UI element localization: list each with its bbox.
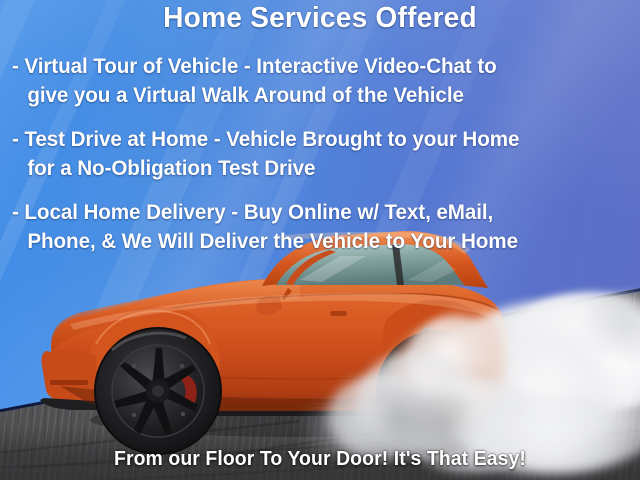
list-item: - Local Home Delivery - Buy Online w/ Te… [12,198,603,256]
list-item-line-1: - Virtual Tour of Vehicle - Interactive … [12,52,603,81]
tagline: From our Floor To Your Door! It's That E… [10,448,631,471]
services-list: - Virtual Tour of Vehicle - Interactive … [12,52,603,271]
list-item-line-2: for a No-Obligation Test Drive [12,154,603,183]
list-item-line-1: - Local Home Delivery - Buy Online w/ Te… [12,198,603,227]
list-item-line-2: Phone, & We Will Deliver the Vehicle to … [12,227,603,256]
list-item: - Virtual Tour of Vehicle - Interactive … [12,52,603,110]
page-title: Home Services Offered [10,1,631,35]
list-item-line-1: - Test Drive at Home - Vehicle Brought t… [12,125,603,154]
promotional-banner: Home Services Offered - Virtual Tour of … [0,0,640,480]
list-item: - Test Drive at Home - Vehicle Brought t… [12,125,603,183]
list-item-line-2: give you a Virtual Walk Around of the Ve… [12,81,603,110]
